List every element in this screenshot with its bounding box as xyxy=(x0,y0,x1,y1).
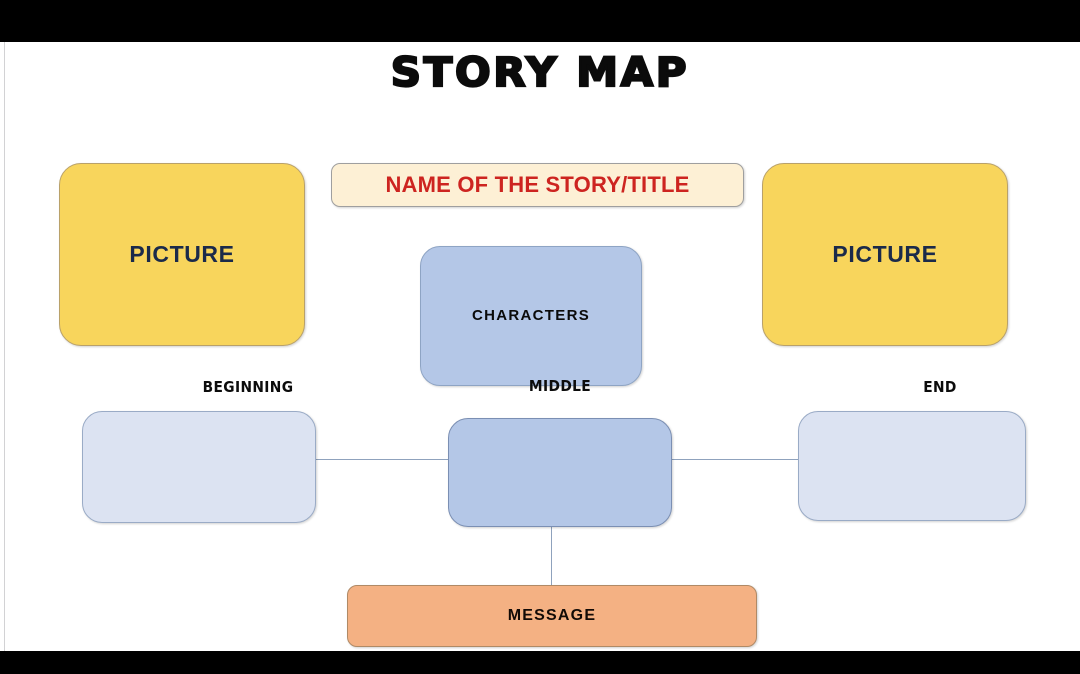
caption-middle: MIDDLE xyxy=(459,377,661,395)
message-box[interactable]: MESSAGE xyxy=(347,585,757,647)
caption-end: END xyxy=(839,378,1041,396)
beginning-box[interactable] xyxy=(82,411,316,523)
message-label: MESSAGE xyxy=(508,607,596,625)
picture-left-label: PICTURE xyxy=(129,242,234,267)
letterbox-top-bar xyxy=(0,0,1080,42)
page-title: STORY MAP xyxy=(0,50,1080,96)
connector-middle-to-end xyxy=(672,459,799,460)
story-map-slide: STORY MAP NAME OF THE STORY/TITLE PICTUR… xyxy=(0,42,1080,651)
middle-box[interactable] xyxy=(448,418,672,527)
caption-beginning: BEGINNING xyxy=(147,378,349,396)
characters-box[interactable]: CHARACTERS xyxy=(420,246,642,386)
end-box[interactable] xyxy=(798,411,1026,521)
slide-left-edge-line xyxy=(4,42,5,651)
story-title-label: NAME OF THE STORY/TITLE xyxy=(385,173,689,197)
picture-box-right[interactable]: PICTURE xyxy=(762,163,1008,346)
characters-label: CHARACTERS xyxy=(472,308,590,325)
story-title-box[interactable]: NAME OF THE STORY/TITLE xyxy=(331,163,744,207)
screenshot-frame: STORY MAP NAME OF THE STORY/TITLE PICTUR… xyxy=(0,0,1080,674)
picture-box-left[interactable]: PICTURE xyxy=(59,163,305,346)
connector-beginning-to-middle xyxy=(316,459,449,460)
connector-middle-to-message xyxy=(551,527,552,586)
picture-right-label: PICTURE xyxy=(832,242,937,267)
letterbox-bottom-bar xyxy=(0,651,1080,674)
